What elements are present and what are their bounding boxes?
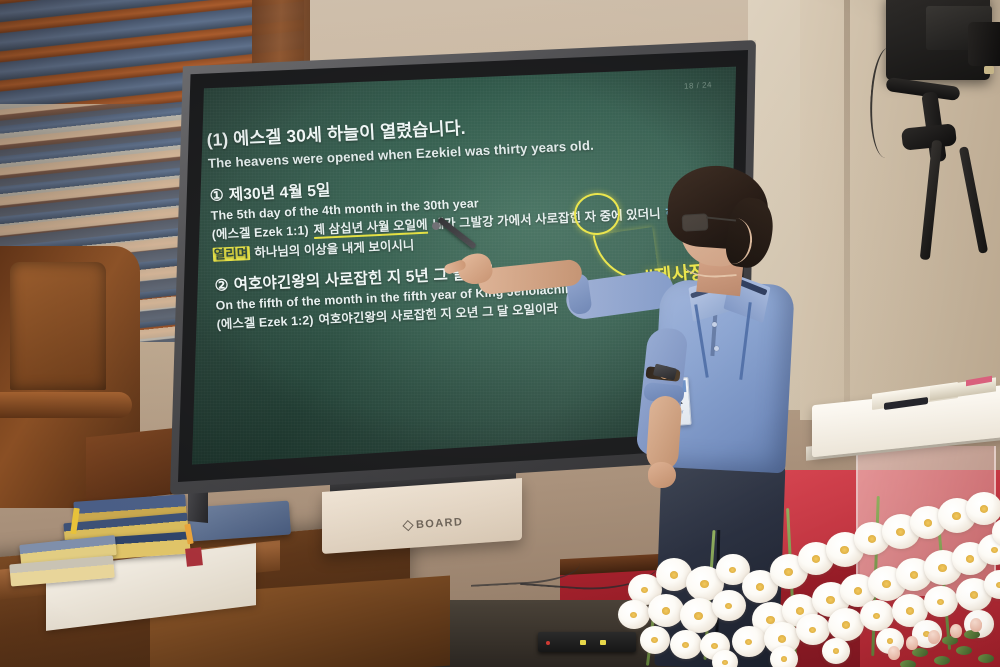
- heading-suffix: 하늘이 열렸습니다.: [326, 118, 466, 145]
- orchid-bud: [888, 646, 900, 660]
- sanctuary-presentation-scene: BOARD 18 / 24 (1) 에스겔30세하늘이 열렸습니다. The h…: [0, 0, 1000, 667]
- chair-armrest: [0, 392, 132, 418]
- orchid-leaf: [934, 656, 950, 665]
- orchid-bloom: [966, 492, 1000, 525]
- orchid-bloom: [796, 614, 830, 645]
- orchid-bloom: [924, 586, 958, 617]
- orchid-bloom: [828, 608, 864, 641]
- eyeglasses-icon: [682, 213, 709, 231]
- shirt-button: [714, 346, 719, 351]
- orchid-bloom: [732, 626, 766, 657]
- orchid-bloom: [670, 630, 702, 659]
- point2-ref-prefix: (에스겔 Ezek 1:2): [216, 313, 314, 332]
- orchid-arrangement: [612, 470, 1000, 667]
- orchid-bloom: [712, 650, 738, 667]
- orchid-bloom: [712, 590, 746, 621]
- camera-lens-icon: [968, 22, 1000, 66]
- camera-tally-light-icon: [984, 66, 994, 74]
- orchid-bloom: [618, 600, 650, 629]
- red-bookmark: [185, 547, 203, 567]
- chair-backrest: [10, 262, 106, 390]
- orchid-bloom: [822, 638, 850, 664]
- orchid-bud: [950, 624, 962, 638]
- pillar-seam: [844, 0, 850, 420]
- diamond-logo-icon: [402, 520, 413, 531]
- point1-marker: ①: [209, 187, 224, 205]
- orchid-bloom: [648, 594, 684, 627]
- orchid-leaf: [900, 660, 916, 667]
- point2-marker: ②: [214, 277, 229, 295]
- shirt-button: [712, 322, 717, 327]
- orchid-bloom: [640, 626, 670, 654]
- orchid-bloom: [860, 600, 894, 631]
- point1-ref-prefix: (에스겔 Ezek 1:1): [211, 223, 309, 242]
- near-forearm: [645, 395, 682, 471]
- orchid-bloom: [770, 646, 798, 667]
- page-indicator: 18 / 24: [684, 80, 712, 90]
- heading-circled-term: 30세: [286, 125, 323, 147]
- headset-microphone-icon: [683, 254, 736, 280]
- point1-ref-highlight: 열리며: [213, 246, 250, 262]
- orchid-bud: [906, 636, 918, 650]
- point1-ref-tail: 하나님의 이상을 내게 보이시니: [254, 238, 415, 260]
- orchid-leaf: [978, 654, 994, 663]
- orchid-leaf: [956, 646, 972, 655]
- orchid-bud: [928, 630, 940, 644]
- point1-text: 제30년 4월 5일: [228, 182, 331, 204]
- heading-prefix: (1) 에스겔: [206, 126, 282, 149]
- orchid-bud: [970, 618, 982, 632]
